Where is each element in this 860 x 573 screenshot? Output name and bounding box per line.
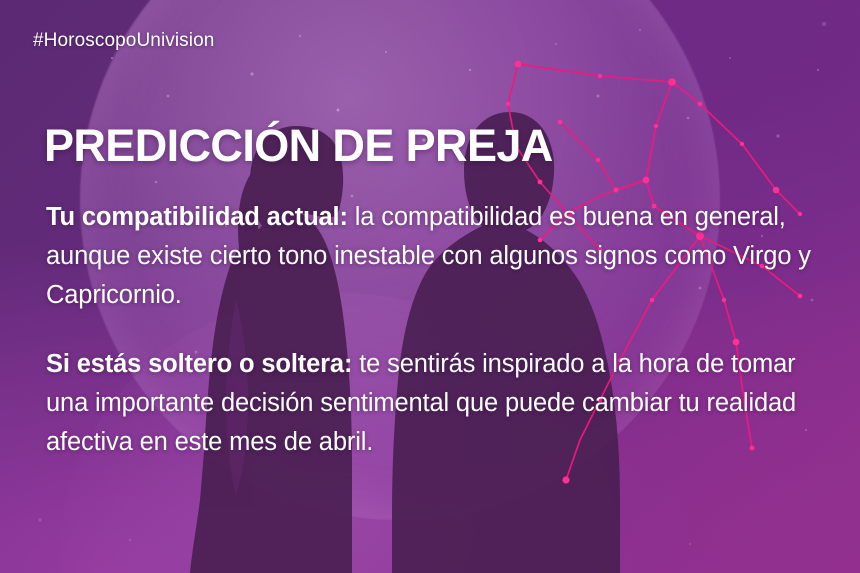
paragraph-single: Si estás soltero o soltera: te sentirás … bbox=[46, 345, 832, 462]
hashtag-label: #HoroscopoUnivision bbox=[33, 30, 214, 52]
horoscope-card: #HoroscopoUnivision PREDICCIÓN DE PREJA … bbox=[0, 0, 860, 573]
paragraph-compatibility: Tu compatibilidad actual: la compatibili… bbox=[46, 198, 832, 315]
paragraph-single-lead: Si estás soltero o soltera: bbox=[46, 350, 352, 378]
paragraph-compatibility-lead: Tu compatibilidad actual: bbox=[46, 203, 348, 231]
prediction-body: Tu compatibilidad actual: la compatibili… bbox=[46, 198, 832, 462]
page-title: PREDICCIÓN DE PREJA bbox=[44, 123, 553, 168]
